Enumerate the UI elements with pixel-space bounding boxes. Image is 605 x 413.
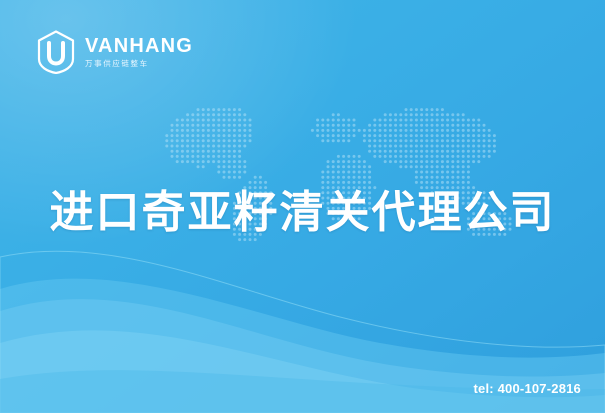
brand-name: VANHANG	[85, 36, 193, 56]
page-title: 进口奇亚籽清关代理公司	[0, 176, 605, 240]
brand-logo: VANHANG 万事供应链整车	[36, 30, 193, 74]
contact-phone: tel: 400-107-2816	[474, 381, 581, 396]
brand-tagline: 万事供应链整车	[85, 60, 193, 68]
vanhang-shield-u-logo-icon	[36, 30, 76, 74]
poster-canvas: VANHANG 万事供应链整车 进口奇亚籽清关代理公司 tel: 400-107…	[0, 0, 605, 413]
